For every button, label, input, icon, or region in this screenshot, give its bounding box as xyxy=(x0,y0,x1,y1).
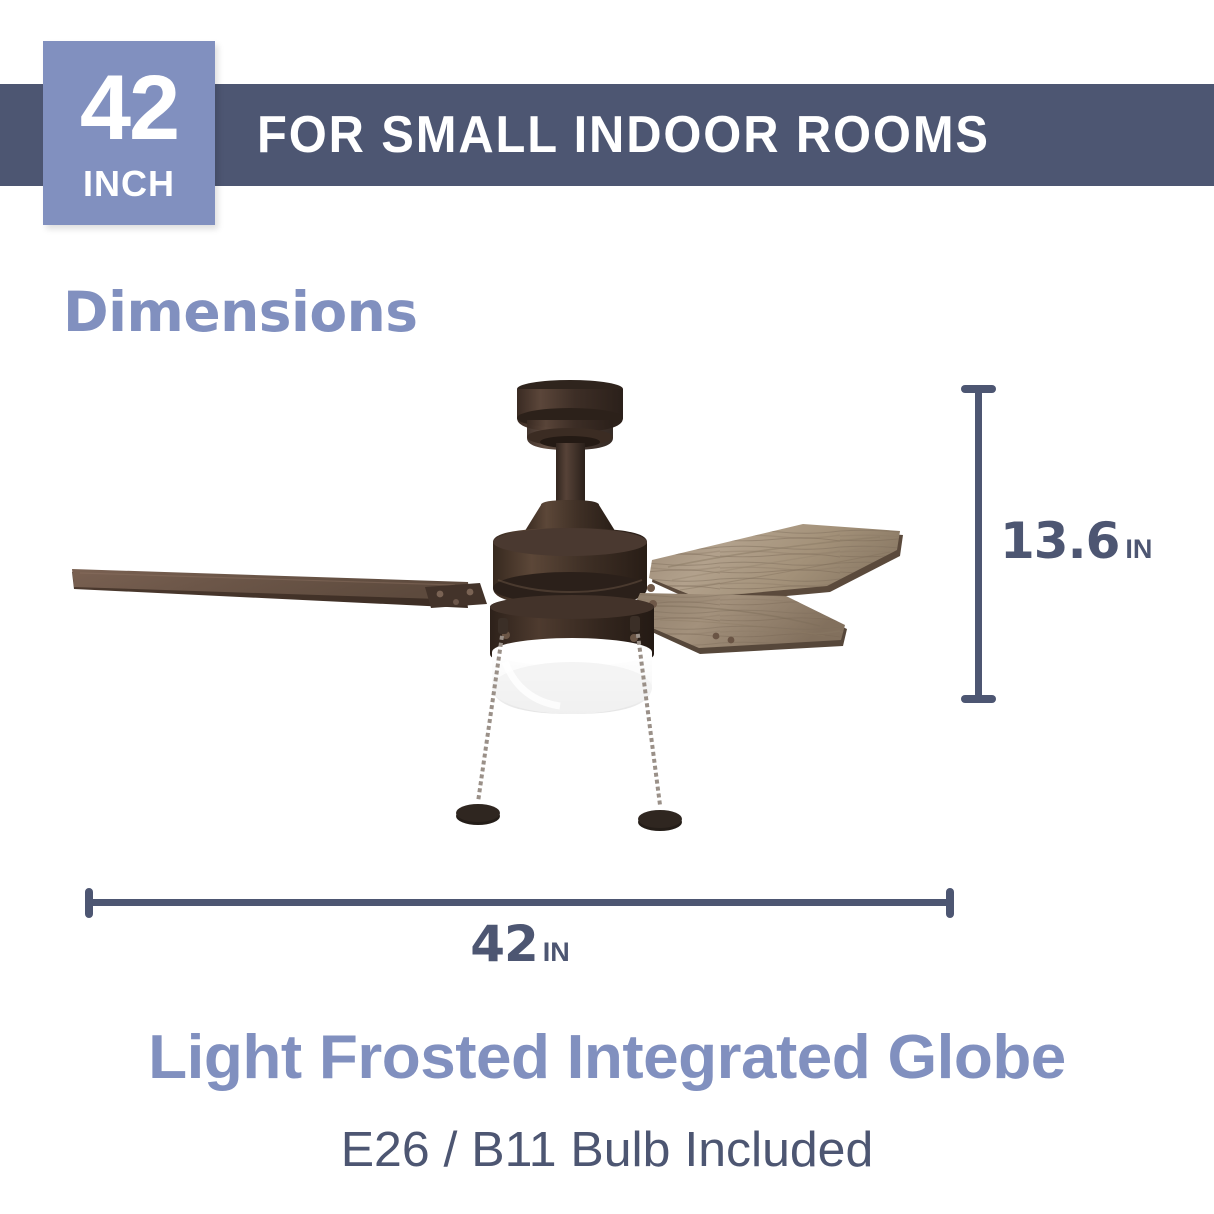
feature-headline: Light Frosted Integrated Globe xyxy=(0,1022,1214,1093)
width-measure-cap-right xyxy=(946,888,954,918)
pull-chain-right xyxy=(630,616,682,831)
fan-blade-right-lower xyxy=(629,593,847,654)
fan-blade-right-upper xyxy=(649,524,903,604)
fan-light-globe xyxy=(492,638,652,714)
height-measure-stem xyxy=(975,388,982,700)
width-measure-label: 42IN xyxy=(0,915,1040,973)
height-measure-label: 13.6IN xyxy=(1000,512,1152,570)
page-title: Dimensions xyxy=(63,280,418,344)
feature-subline: E26 / B11 Bulb Included xyxy=(0,1122,1214,1178)
fan-light-fitter xyxy=(490,595,654,666)
fan-blade-arm-right xyxy=(647,584,734,643)
size-badge: 42 INCH xyxy=(43,41,215,225)
width-unit: IN xyxy=(543,937,570,967)
width-measure-stem xyxy=(88,899,950,906)
height-measure-cap-bottom xyxy=(961,695,996,703)
height-unit: IN xyxy=(1125,534,1152,564)
fan-motor-housing xyxy=(493,528,647,606)
width-value: 42 xyxy=(470,915,538,973)
header-title: FOR SMALL INDOOR ROOMS xyxy=(257,100,990,170)
height-value: 13.6 xyxy=(1000,512,1119,570)
size-badge-unit: INCH xyxy=(43,163,215,205)
fan-motor-cone xyxy=(523,500,617,546)
size-badge-number: 42 xyxy=(43,53,215,163)
fan-canopy xyxy=(517,380,623,450)
pull-chain-left xyxy=(456,618,508,825)
fan-blade-left xyxy=(72,569,487,608)
fan-downrod xyxy=(555,443,585,510)
